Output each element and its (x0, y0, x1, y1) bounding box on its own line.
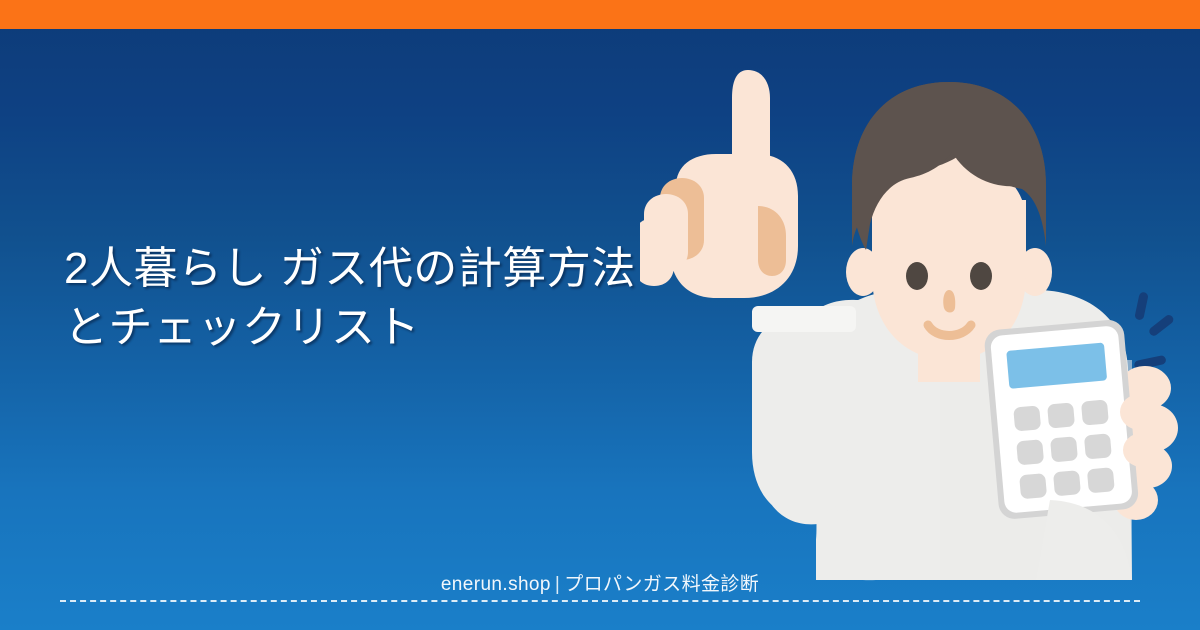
neck (918, 336, 980, 382)
calculator (983, 319, 1139, 520)
top-accent-bar (0, 0, 1200, 29)
footer-site-name: enerun.shop (441, 574, 551, 595)
footer-tagline: プロパンガス料金診断 (564, 574, 759, 595)
sparkle-marks (1134, 291, 1176, 370)
nose (943, 290, 955, 313)
eye-right (970, 262, 992, 290)
eye-left (906, 262, 928, 290)
calculator-keys (1013, 399, 1115, 499)
footer-credit: enerun.shop|プロパンガス料金診断 (0, 569, 1200, 596)
og-card: 2人暮らし ガス代の計算方法 とチェックリスト enerun.shop|プロパン… (0, 0, 1200, 630)
footer-divider (60, 600, 1140, 602)
page-title: 2人暮らし ガス代の計算方法 とチェックリスト (64, 240, 764, 358)
footer-separator: | (551, 574, 564, 595)
